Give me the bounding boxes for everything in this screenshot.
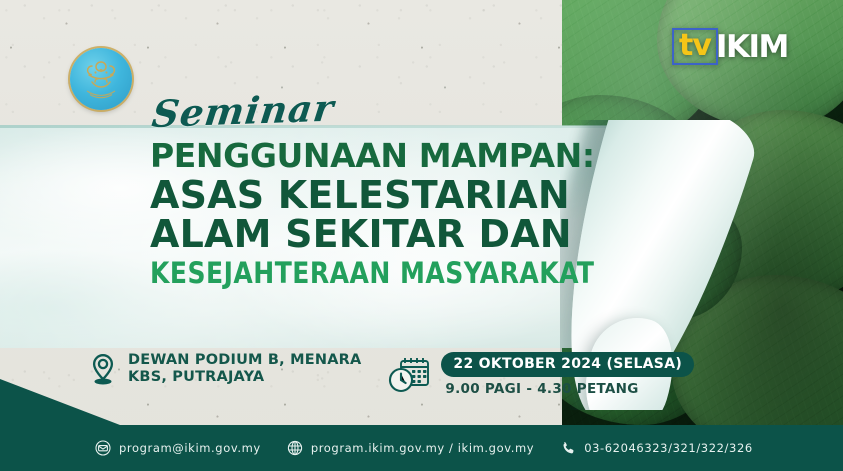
ikim-emblem	[70, 48, 132, 110]
time-text: 9.00 PAGI - 4.30 PETANG	[441, 381, 694, 397]
tv-logo-box: tv	[672, 28, 718, 65]
ikim-logo-text: IKIM	[716, 29, 788, 65]
venue-line-2: KBS, PUTRAJAYA	[128, 369, 361, 386]
email-icon	[95, 440, 111, 456]
calendar-clock-icon	[387, 355, 431, 395]
title-line-1: PENGGUNAAN MAMPAN:	[150, 139, 590, 173]
venue-text: DEWAN PODIUM B, MENARA KBS, PUTRAJAYA	[128, 352, 361, 386]
website-text: program.ikim.gov.my / ikim.gov.my	[311, 441, 534, 455]
location-pin-icon	[88, 352, 118, 386]
venue-line-1: DEWAN PODIUM B, MENARA	[128, 352, 361, 369]
title-line-3: ALAM SEKITAR DAN	[150, 215, 590, 254]
seminar-poster: tv IKIM Seminar PENGGUNAAN MAMPAN: ASAS …	[0, 0, 843, 471]
contact-website[interactable]: program.ikim.gov.my / ikim.gov.my	[287, 440, 534, 456]
tv-logo-text: tv	[679, 28, 711, 63]
date-time-column: 22 OKTOBER 2024 (SELASA) 9.00 PAGI - 4.3…	[441, 352, 694, 397]
globe-icon	[287, 440, 303, 456]
schedule-block: 22 OKTOBER 2024 (SELASA) 9.00 PAGI - 4.3…	[387, 352, 694, 397]
event-details-row: DEWAN PODIUM B, MENARA KBS, PUTRAJAYA	[88, 352, 694, 397]
contact-phone[interactable]: 03-62046323/321/322/326	[560, 440, 753, 456]
phone-icon	[560, 440, 576, 456]
title-line-2: ASAS KELESTARIAN	[150, 176, 590, 215]
footer-contact-bar: program@ikim.gov.my program.ikim.gov.my …	[0, 425, 843, 471]
headline-block: Seminar PENGGUNAAN MAMPAN: ASAS KELESTAR…	[150, 96, 590, 289]
contact-email[interactable]: program@ikim.gov.my	[95, 440, 261, 456]
venue-block: DEWAN PODIUM B, MENARA KBS, PUTRAJAYA	[88, 352, 361, 386]
email-text: program@ikim.gov.my	[119, 441, 261, 455]
tvikim-logo: tv IKIM	[672, 28, 788, 65]
date-badge: 22 OKTOBER 2024 (SELASA)	[441, 352, 694, 377]
title-line-4: KESEJAHTERAAN MASYARAKAT	[150, 259, 572, 289]
phone-text: 03-62046323/321/322/326	[584, 441, 753, 455]
